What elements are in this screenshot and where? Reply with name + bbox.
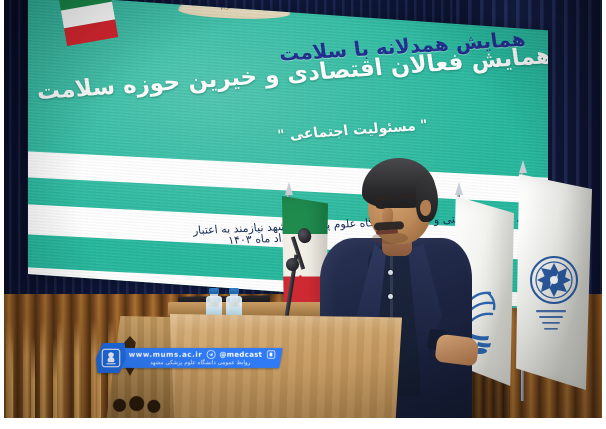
photo-frame-right	[602, 0, 606, 429]
watermark-badge: www.mums.ac.ir @medcast روابط عمومی دانش…	[93, 343, 283, 373]
iran-emblem-icon	[293, 274, 310, 289]
watermark-text-block: www.mums.ac.ir @medcast روابط عمومی دانش…	[121, 348, 282, 368]
watermark-links-row: www.mums.ac.ir @medcast	[129, 350, 276, 359]
chamber-flag	[516, 174, 592, 390]
watermark-url[interactable]: www.mums.ac.ir	[129, 351, 203, 359]
bale-icon[interactable]	[266, 350, 275, 359]
flag-finial-iran	[285, 182, 293, 195]
telegram-icon[interactable]	[206, 350, 215, 359]
speaker-ear	[420, 200, 431, 216]
banner-headline-approach: " مسئولیت اجتماعی "	[276, 117, 428, 144]
microphone-joint	[286, 258, 299, 271]
shirt-button	[388, 270, 393, 275]
flag-finial-chamber	[519, 160, 527, 173]
mums-logo-icon	[93, 343, 128, 373]
watermark-subtitle: روابط عمومی دانشگاه علوم پزشکی مشهد	[150, 360, 250, 366]
speaker-eye	[400, 202, 411, 207]
photo-stage: سلامت مردم همایش همدلانه با سلامت همایش …	[0, 0, 606, 429]
shirt-button	[388, 294, 393, 299]
mums-emblem-icon	[101, 348, 121, 368]
watermark-handle[interactable]: @medcast	[219, 351, 262, 359]
speaker-hand	[434, 334, 479, 367]
photo-frame-bottom	[0, 418, 606, 429]
chamber-flag-logo-icon	[524, 246, 584, 346]
photo-frame-left	[0, 0, 4, 429]
